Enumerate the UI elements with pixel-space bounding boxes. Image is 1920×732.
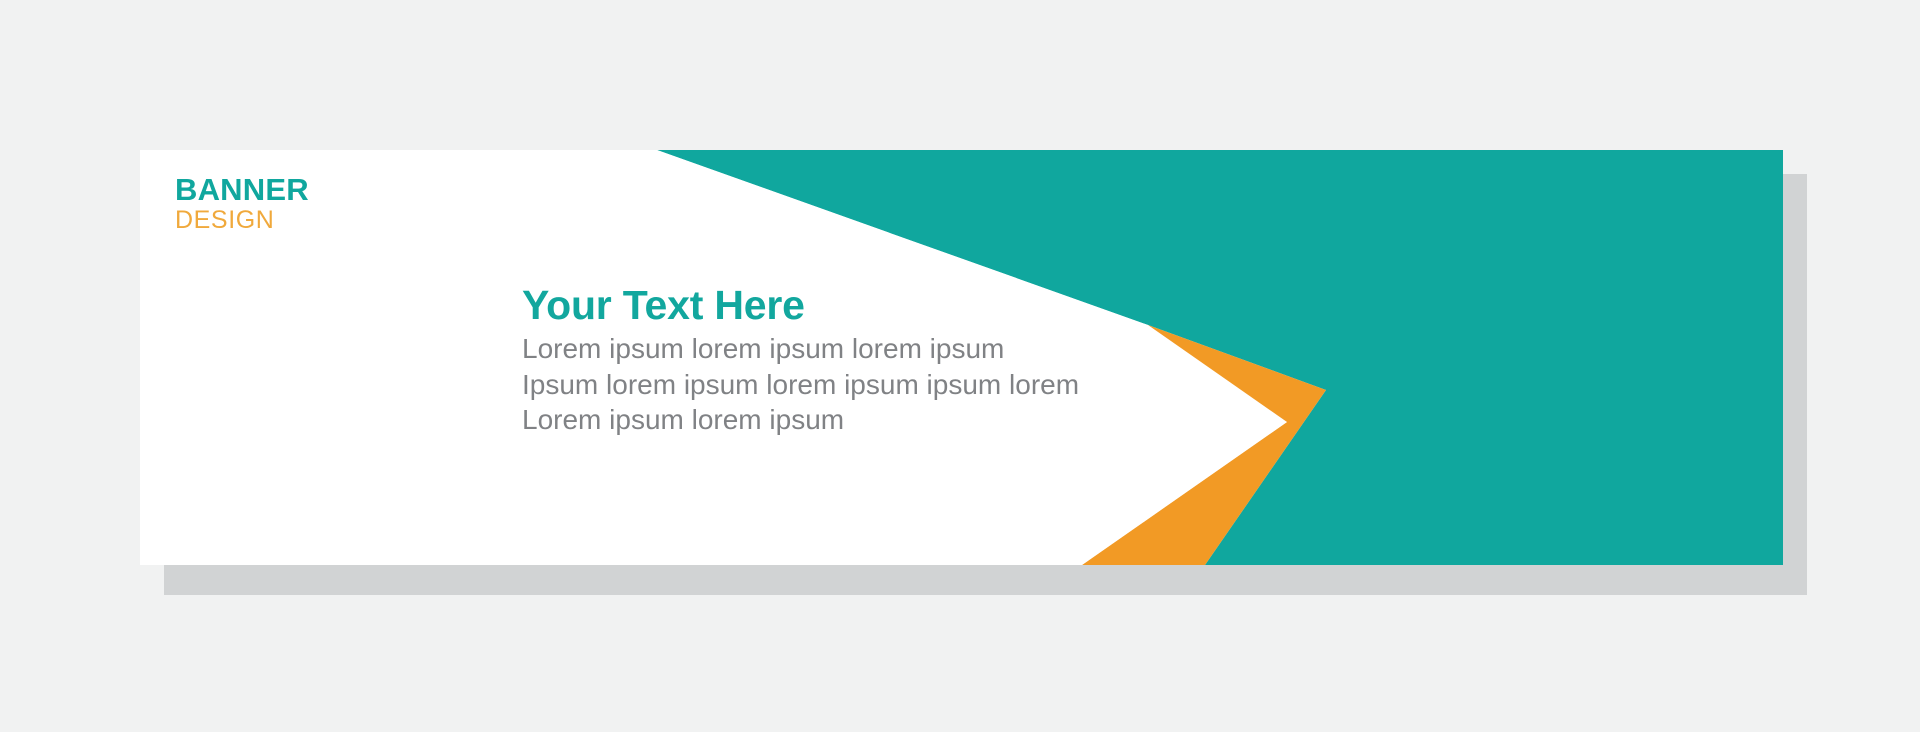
banner-canvas: BANNER DESIGN Your Text Here Lorem ipsum…	[0, 0, 1920, 732]
logo-secondary-text: DESIGN	[175, 208, 309, 233]
body-line: Ipsum lorem ipsum lorem ipsum ipsum lore…	[522, 367, 1222, 402]
body-line: Lorem ipsum lorem ipsum	[522, 402, 1222, 437]
banner-logo: BANNER DESIGN	[175, 174, 309, 233]
banner-text-block: Your Text Here Lorem ipsum lorem ipsum l…	[522, 283, 1222, 437]
logo-primary-text: BANNER	[175, 174, 309, 205]
banner-headline: Your Text Here	[522, 283, 1222, 327]
body-line: Lorem ipsum lorem ipsum lorem ipsum	[522, 331, 1222, 366]
banner-body-text: Lorem ipsum lorem ipsum lorem ipsum Ipsu…	[522, 331, 1222, 437]
